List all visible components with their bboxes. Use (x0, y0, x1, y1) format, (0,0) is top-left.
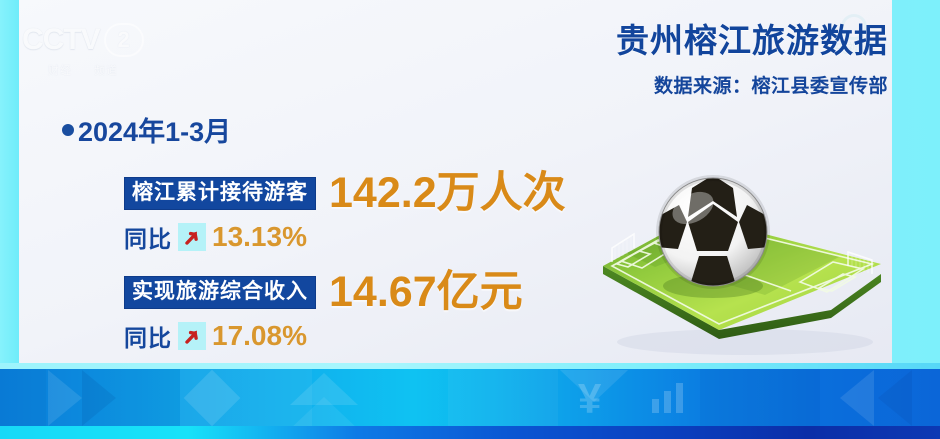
stat-row: 实现旅游综合收入 14.67亿元 同比 17.08% (124, 271, 566, 353)
data-source-subtitle: 数据来源：榕江县委宣传部 (616, 71, 888, 98)
page-title: 贵州榕江旅游数据 (616, 22, 888, 60)
stat-percent: 13.13% (212, 221, 307, 253)
bottom-decorative-band: ¥ (0, 363, 940, 439)
yen-currency-icon: ¥ (578, 378, 601, 420)
headline-block: 贵州榕江旅游数据 数据来源：榕江县委宣传部 (616, 22, 888, 98)
soccer-ball-on-pitch-illustration (595, 170, 895, 360)
band-bottom-line (0, 426, 940, 439)
chevron-right-icon (48, 370, 82, 426)
chevron-right-icon (82, 370, 116, 426)
arrow-up-right-icon (178, 322, 206, 350)
chevron-left-icon (878, 370, 912, 426)
bullet-dot-icon (62, 124, 74, 136)
stat-value: 142.2万人次 (329, 172, 566, 215)
cctv-logo-number: 2 (104, 23, 144, 57)
band-block (0, 369, 46, 426)
cctv-channel-logo: CCTV 2 财经 频道 (22, 20, 154, 86)
band-block (700, 369, 820, 426)
period-label: 2024年1-3月 (62, 110, 231, 149)
band-block (448, 369, 558, 426)
stat-row: 榕江累计接待游客 142.2万人次 同比 13.13% (124, 172, 566, 254)
stat-percent: 17.08% (212, 320, 307, 352)
period-text: 2024年1-3月 (78, 110, 231, 149)
stat-compare-label: 同比 (124, 319, 172, 353)
stats-list: 榕江累计接待游客 142.2万人次 同比 13.13% 实现旅游综合收入 14.… (124, 172, 566, 370)
cctv-logo-sub-left: 财经 (48, 62, 72, 78)
stat-value: 14.67亿元 (329, 271, 523, 314)
triangle-up-icon (290, 397, 358, 429)
stat-compare-label: 同比 (124, 220, 172, 254)
cctv-logo-sub-right: 频道 (94, 62, 118, 78)
left-edge-strip (0, 0, 19, 363)
arrow-up-right-icon (178, 223, 206, 251)
status-badge: 实现旅游综合收入 (124, 276, 316, 309)
bar-chart-icon (652, 383, 683, 413)
cctv-logo-word: CCTV (22, 23, 100, 57)
status-badge: 榕江累计接待游客 (124, 177, 316, 210)
chevron-left-icon (840, 370, 874, 426)
broadcast-infographic-frame: CCTV 2 财经 频道 央视网 贵州榕江旅游数据 数据来源：榕江县委宣传部 2… (0, 0, 940, 439)
